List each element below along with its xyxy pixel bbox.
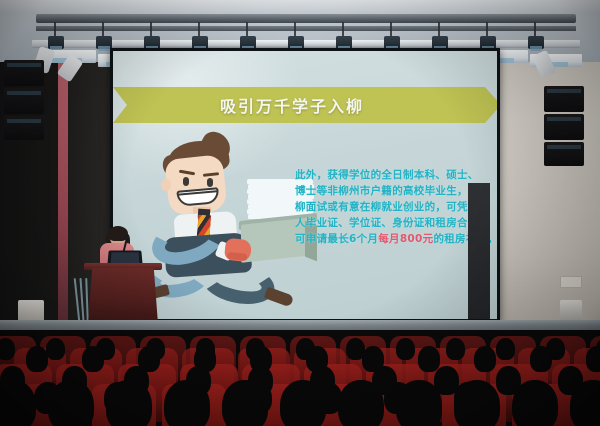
audience-member-silhouette-front (164, 380, 210, 426)
lamp-cable (102, 22, 104, 36)
audience-member-silhouette (496, 338, 515, 360)
audience-member-silhouette (418, 346, 440, 372)
wall-outlet (560, 276, 582, 288)
speaker-array-right-3 (544, 142, 584, 166)
audience-area (0, 330, 600, 426)
highlighted-amount: 每月800元 (378, 233, 433, 245)
audience-member-silhouette (46, 338, 65, 360)
slide-body-line: 博士等非柳州市户籍的高校毕业生，来 (295, 183, 497, 199)
lamp-cable (342, 22, 344, 36)
podium (88, 268, 158, 324)
screenshot-root: 吸引万千学子入柳 (0, 0, 600, 426)
eye-left (183, 177, 189, 186)
audience-member-silhouette-front (454, 380, 500, 426)
projection-screen: 吸引万千学子入柳 (110, 48, 500, 322)
audience-member-silhouette-front (396, 380, 442, 426)
audience-member-silhouette (0, 338, 15, 360)
speaker-array-right-2 (544, 114, 584, 140)
stage-lamp (48, 36, 64, 49)
audience-member-silhouette-front (512, 380, 558, 426)
speaker-array-left-3 (4, 116, 44, 140)
audience-member-silhouette (474, 346, 496, 372)
lamp-cable (486, 22, 488, 36)
cable-strand (85, 278, 89, 322)
lamp-cable (534, 22, 536, 36)
slide-banner: 吸引万千学子入柳 (113, 87, 497, 123)
lamp-cable (246, 22, 248, 36)
slide-content: 吸引万千学子入柳 (113, 51, 497, 319)
audience-member-silhouette (446, 338, 465, 360)
audience-member-silhouette (396, 338, 415, 360)
slide-title: 吸引万千学子入柳 (220, 93, 364, 117)
eye-right (207, 178, 213, 187)
lighting-truss-lower (36, 26, 576, 31)
shoe-front (264, 287, 294, 308)
lamp-cable (198, 22, 200, 36)
lighting-truss (36, 14, 576, 23)
ear-shape (161, 179, 171, 191)
audience-member-silhouette (82, 346, 104, 372)
slide-body-line: 可申请最长6个月每月800元的租房补贴。 (295, 231, 497, 247)
lamp-cable (150, 22, 152, 36)
speaker-array-left-1 (4, 60, 44, 86)
lamp-cable (294, 22, 296, 36)
speaker-array-right-1 (544, 86, 584, 112)
light-rail (32, 40, 580, 48)
audience-member-silhouette (586, 346, 600, 372)
slide-body-text: 此外，获得学位的全日制本科、硕士、博士等非柳州市户籍的高校毕业生，来柳面试或有意… (295, 167, 497, 247)
floor-object-left (18, 300, 44, 322)
audience-member-silhouette-front (106, 380, 152, 426)
stage-lamp (528, 36, 544, 49)
audience-member-silhouette-front (338, 380, 384, 426)
floor-object-right (560, 300, 582, 320)
audience-member-silhouette-front (222, 380, 268, 426)
slide-body-line: 柳面试或有意在柳就业创业的，可凭本 (295, 199, 497, 215)
stage-curtain (58, 58, 68, 340)
ceiling-upper-band (0, 0, 600, 12)
audience-member-silhouette-front (48, 380, 94, 426)
lamp-cable (438, 22, 440, 36)
audience-member-silhouette (530, 346, 552, 372)
lamp-cable (54, 22, 56, 36)
foreground-occluder (468, 183, 490, 319)
cable-strand (79, 278, 84, 322)
slide-body-line: 人毕业证、学位证、身份证和租房合同 (295, 215, 497, 231)
slide-body-line: 此外，获得学位的全日制本科、硕士、 (295, 167, 497, 183)
audience-member-silhouette-front (280, 380, 326, 426)
audience-member-silhouette (26, 346, 48, 372)
lamp-cable (390, 22, 392, 36)
speaker-array-left-2 (4, 88, 44, 114)
